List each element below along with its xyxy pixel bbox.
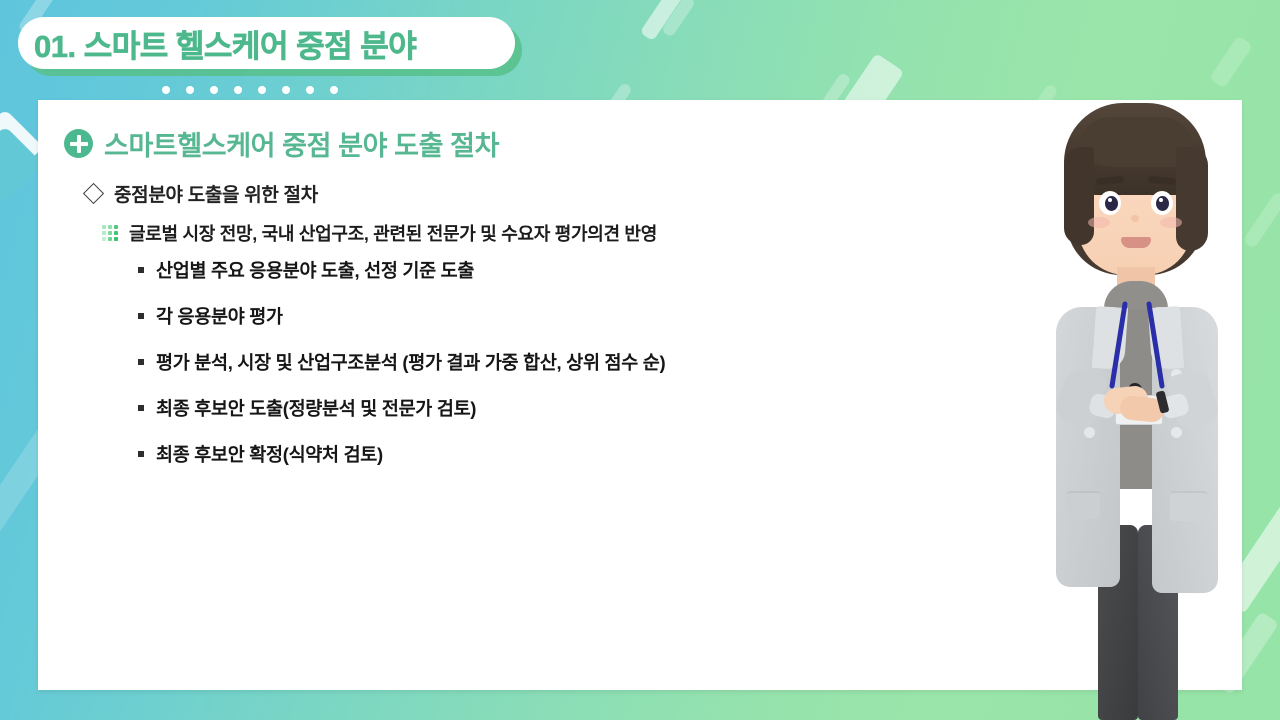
decor-dot <box>186 86 194 94</box>
diamond-outline-icon <box>83 183 104 204</box>
list-item-label: 최종 후보안 확정(식약처 검토) <box>156 441 383 467</box>
list-item: 산업별 주요 응용분야 도출, 선정 기준 도출 <box>138 257 998 283</box>
square-bullet-icon <box>138 451 144 457</box>
square-bullet-icon <box>138 313 144 319</box>
outline-level1-label: 중점분야 도출을 위한 절차 <box>114 180 318 207</box>
section-heading-label: 스마트헬스케어 중점 분야 도출 절차 <box>104 124 499 163</box>
decor-dot <box>282 86 290 94</box>
decor-dot <box>306 86 314 94</box>
decor-chevron <box>0 109 43 185</box>
section-heading: 스마트헬스케어 중점 분야 도출 절차 <box>64 124 499 163</box>
list-item: 각 응용분야 평가 <box>138 303 998 329</box>
list-item: 평가 분석, 시장 및 산업구조분석 (평가 결과 가중 합산, 상위 점수 순… <box>138 349 998 375</box>
decor-dot <box>162 86 170 94</box>
square-bullet-icon <box>138 359 144 365</box>
decor-streak <box>1242 191 1280 249</box>
outline-level2-label: 글로벌 시장 전망, 국내 산업구조, 관련된 전문가 및 수요자 평가의견 반… <box>129 220 657 246</box>
banner-pill: 01. 스마트 헬스케어 중점 분야 <box>18 17 515 69</box>
list-item-label: 각 응용분야 평가 <box>156 303 283 329</box>
decor-dot <box>330 86 338 94</box>
square-bullet-icon <box>138 267 144 273</box>
outline-level3-list: 산업별 주요 응용분야 도출, 선정 기준 도출 각 응용분야 평가 평가 분석… <box>138 257 998 487</box>
list-item-label: 최종 후보안 도출(정량분석 및 전문가 검토) <box>156 395 476 421</box>
outline-level1: 중점분야 도출을 위한 절차 <box>86 180 318 207</box>
decor-dot-row <box>162 86 338 94</box>
list-item-label: 산업별 주요 응용분야 도출, 선정 기준 도출 <box>156 257 474 283</box>
list-item-label: 평가 분석, 시장 및 산업구조분석 (평가 결과 가중 합산, 상위 점수 순… <box>156 349 665 375</box>
slide-title-banner: 01. 스마트 헬스케어 중점 분야 <box>18 17 515 69</box>
list-item: 최종 후보안 도출(정량분석 및 전문가 검토) <box>138 395 998 421</box>
decor-dot <box>234 86 242 94</box>
plus-circle-icon <box>64 129 93 158</box>
decor-dot <box>258 86 266 94</box>
decor-dot <box>210 86 218 94</box>
outline-level2: 글로벌 시장 전망, 국내 산업구조, 관련된 전문가 및 수요자 평가의견 반… <box>102 220 657 246</box>
content-card: 스마트헬스케어 중점 분야 도출 절차 중점분야 도출을 위한 절차 글로벌 시… <box>38 100 1242 690</box>
list-item: 최종 후보안 확정(식약처 검토) <box>138 441 998 467</box>
decor-streak <box>640 0 687 41</box>
decor-streak <box>1209 35 1253 88</box>
square-bullet-icon <box>138 405 144 411</box>
presentation-slide: 01. 스마트 헬스케어 중점 분야 스마트헬스케어 중점 분야 도출 절차 중… <box>0 0 1280 720</box>
page-title: 01. 스마트 헬스케어 중점 분야 <box>34 21 416 66</box>
decor-streak <box>661 0 696 38</box>
grid-dots-icon <box>102 225 119 242</box>
